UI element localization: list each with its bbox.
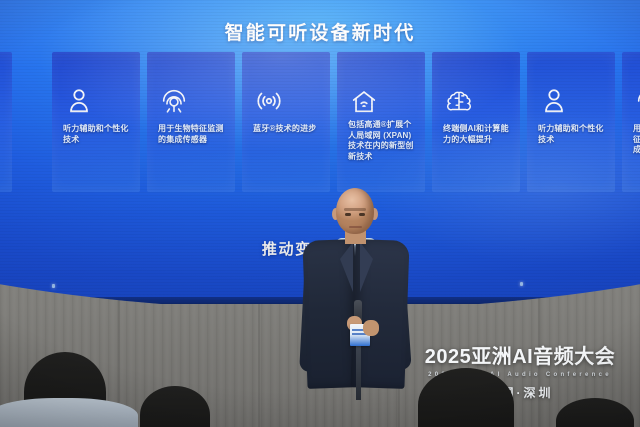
slide-card-caption: 用于生物特征监测的集成传感器 — [633, 124, 640, 156]
speaker-hand — [363, 320, 379, 336]
slide-card-biometric-sensors: 用于生物特征监测的集成传感器 — [147, 52, 235, 192]
slide-card-edge-left: 能 — [0, 52, 12, 192]
person-icon — [64, 86, 94, 116]
fingerprint-icon — [159, 86, 189, 116]
speaker-presenter — [300, 188, 410, 427]
conference-title-cn: 2025亚洲AI音频大会 — [414, 340, 626, 369]
slide-card-hearing-aid-repeat: 听力辅助和个性化技术 — [527, 52, 615, 192]
slide-title: 智能可听设备新时代 — [0, 18, 640, 45]
speaker-eye — [359, 213, 365, 216]
slide-card-caption: 终端侧AI和计算能力的大幅提升 — [443, 124, 514, 145]
slide-card-xpan: 包括高通®扩展个人局域网 (XPAN) 技术在内的新型创新技术 — [337, 52, 425, 192]
home-wifi-icon — [349, 86, 379, 116]
audience-shoulders — [0, 398, 138, 427]
slide-card-biometric-repeat: 用于生物特征监测的集成传感器 — [622, 52, 640, 192]
microphone-handle — [356, 344, 361, 400]
fingerprint-icon — [634, 86, 640, 116]
slide-card-strip: 能 听力辅助和个性化技术 — [0, 52, 640, 192]
slide-card-caption: 能 — [0, 124, 6, 135]
led-indicator-dot — [52, 284, 55, 288]
brain-icon — [444, 86, 474, 116]
conference-photo: 智能可听设备新时代 能 — [0, 0, 640, 427]
person-icon — [539, 86, 569, 116]
slide-card-caption: 听力辅助和个性化技术 — [538, 124, 609, 145]
slide-card-bluetooth: 蓝牙®技术的进步 — [242, 52, 330, 192]
speaker-mouth — [349, 226, 362, 228]
speaker-brow — [344, 208, 366, 211]
speaker-eye — [345, 213, 351, 216]
slide-card-caption: 听力辅助和个性化技术 — [63, 124, 134, 145]
slide-card-on-device-ai: 终端侧AI和计算能力的大幅提升 — [432, 52, 520, 192]
slide-card-hearing-aid: 听力辅助和个性化技术 — [52, 52, 140, 192]
slide-card-caption: 蓝牙®技术的进步 — [253, 124, 324, 135]
led-indicator-dot — [520, 282, 523, 286]
wireless-signal-icon — [254, 86, 284, 116]
slide-card-caption: 包括高通®扩展个人局域网 (XPAN) 技术在内的新型创新技术 — [348, 120, 419, 162]
slide-card-caption: 用于生物特征监测的集成传感器 — [158, 124, 229, 145]
